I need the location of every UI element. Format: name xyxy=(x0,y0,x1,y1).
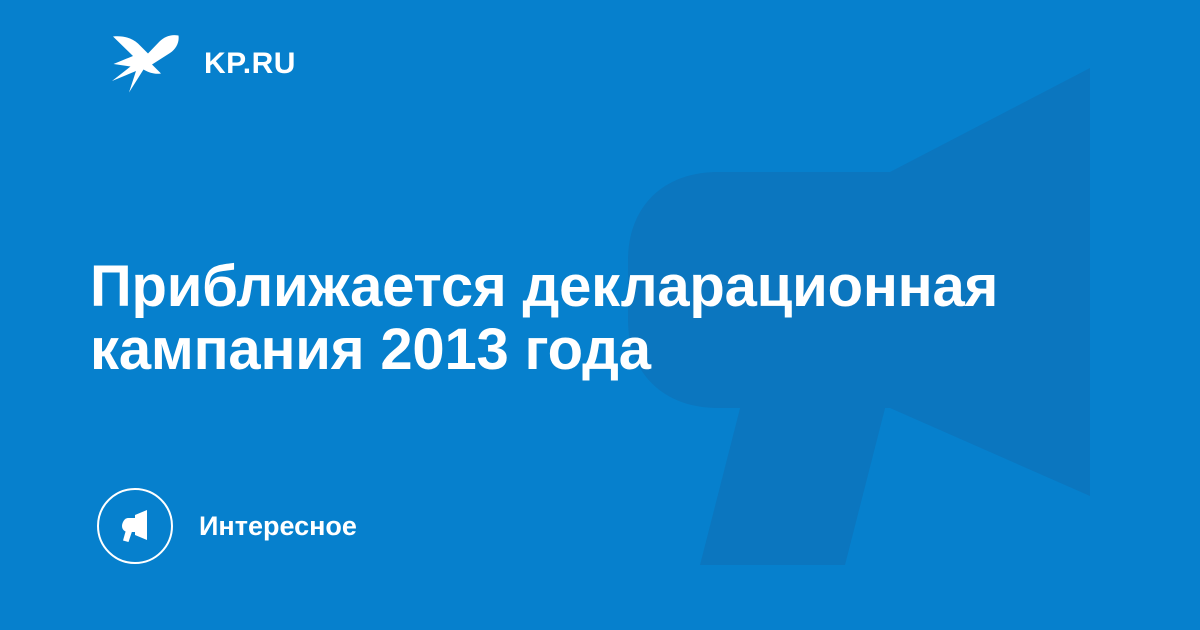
category-label: Интересное xyxy=(199,513,357,540)
megaphone-icon xyxy=(115,506,155,546)
page-title: Приближается декларационная кампания 201… xyxy=(90,255,1050,381)
megaphone-icon-circle xyxy=(97,488,173,564)
category-badge[interactable]: Интересное xyxy=(97,486,357,566)
share-card: KP.RU Приближается декларационная кампан… xyxy=(0,0,1200,630)
brand[interactable]: KP.RU xyxy=(108,34,296,94)
brand-name: KP.RU xyxy=(204,49,296,79)
swallow-bird-icon xyxy=(108,33,182,95)
